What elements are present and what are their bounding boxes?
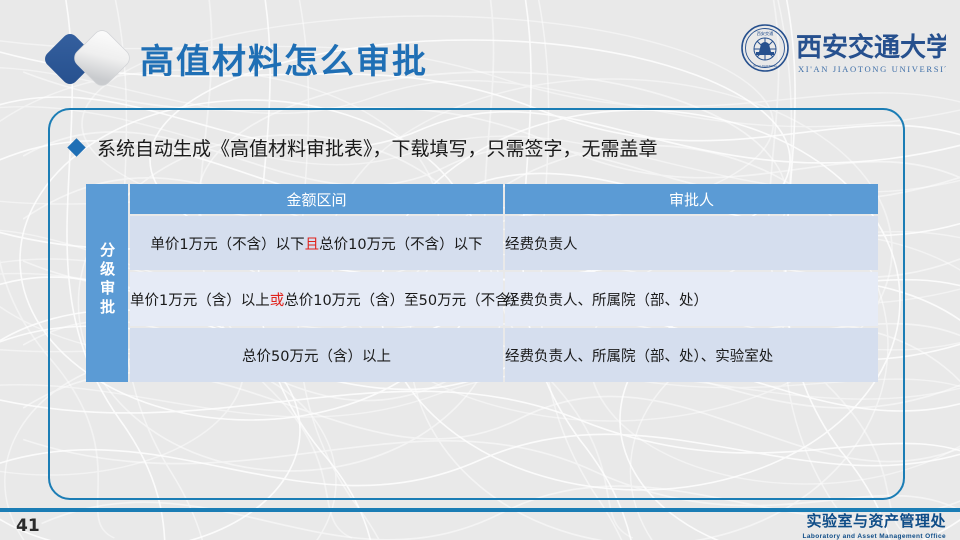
- cell-approver: 经费负责人、所属院（部、处）: [505, 272, 878, 326]
- plain-text: 单价1万元（不含）以下: [150, 237, 304, 253]
- cell-approver: 经费负责人、所属院（部、处）、实验室处: [505, 328, 878, 382]
- plain-text: 总价10万元（含）至50万元（不含）: [284, 293, 524, 309]
- footer-org-name-en: Laboratory and Asset Management Office: [802, 533, 946, 540]
- table-row: 总价50万元（含）以上 经费负责人、所属院（部、处）、实验室处: [86, 328, 878, 382]
- emphasis-text: 且: [305, 237, 320, 253]
- table-row: 单价1万元（不含）以下且总价10万元（不含）以下 经费负责人: [86, 216, 878, 270]
- university-logo: 西安交通 XI'AN JIAOTONG 西安交通大学 XI'AN JIAOTON…: [734, 22, 946, 84]
- cell-amount-range: 单价1万元（含）以上或总价10万元（含）至50万元（不含）: [130, 272, 503, 326]
- university-name-en: XI'AN JIAOTONG UNIVERSITY: [798, 64, 946, 74]
- diamond-pair-icon: [44, 26, 140, 92]
- bullet-line: 系统自动生成《高值材料审批表》，下载填写，只需签字，无需盖章: [70, 134, 658, 161]
- page-number: 41: [16, 516, 40, 536]
- bullet-text: 系统自动生成《高值材料审批表》，下载填写，只需签字，无需盖章: [97, 134, 658, 161]
- slide-canvas: 高值材料怎么审批 西安交通 XI'AN JIAOTONG: [0, 0, 960, 540]
- footer-org-name-cn: 实验室与资产管理处: [802, 510, 946, 531]
- column-header-amount: 金额区间: [130, 184, 503, 214]
- page-title: 高值材料怎么审批: [140, 34, 428, 83]
- plain-text: 总价10万元（不含）以下: [319, 237, 482, 253]
- university-name-cn: 西安交通大学: [796, 32, 946, 63]
- svg-text:西安交通: 西安交通: [757, 30, 775, 37]
- university-seal-icon: 西安交通 XI'AN JIAOTONG: [742, 25, 788, 71]
- row-header-cell: 分级审批: [86, 184, 128, 382]
- cell-approver: 经费负责人: [505, 216, 878, 270]
- approval-table: 分级审批 金额区间 审批人 单价1万元（不含）以下且总价10万元（不含）以下 经…: [84, 182, 880, 384]
- row-header-label: 分级审批: [97, 242, 117, 318]
- diamond-bullet-icon: [67, 138, 85, 156]
- svg-text:XI'AN JIAOTONG: XI'AN JIAOTONG: [753, 64, 777, 68]
- cell-amount-range: 总价50万元（含）以上: [130, 328, 503, 382]
- approval-table-body: 分级审批 金额区间 审批人 单价1万元（不含）以下且总价10万元（不含）以下 经…: [86, 184, 878, 382]
- table-row: 单价1万元（含）以上或总价10万元（含）至50万元（不含） 经费负责人、所属院（…: [86, 272, 878, 326]
- slide-header: 高值材料怎么审批 西安交通 XI'AN JIAOTONG: [0, 0, 960, 100]
- column-header-approver: 审批人: [505, 184, 878, 214]
- cell-amount-range: 单价1万元（不含）以下且总价10万元（不含）以下: [130, 216, 503, 270]
- content-panel: 系统自动生成《高值材料审批表》，下载填写，只需签字，无需盖章 分级审批 金额区间…: [48, 108, 905, 500]
- emphasis-text: 或: [270, 293, 285, 309]
- footer-organization: 实验室与资产管理处 Laboratory and Asset Managemen…: [802, 510, 946, 540]
- table-header-row: 分级审批 金额区间 审批人: [86, 184, 878, 214]
- plain-text: 总价50万元（含）以上: [242, 349, 391, 365]
- plain-text: 单价1万元（含）以上: [130, 293, 270, 309]
